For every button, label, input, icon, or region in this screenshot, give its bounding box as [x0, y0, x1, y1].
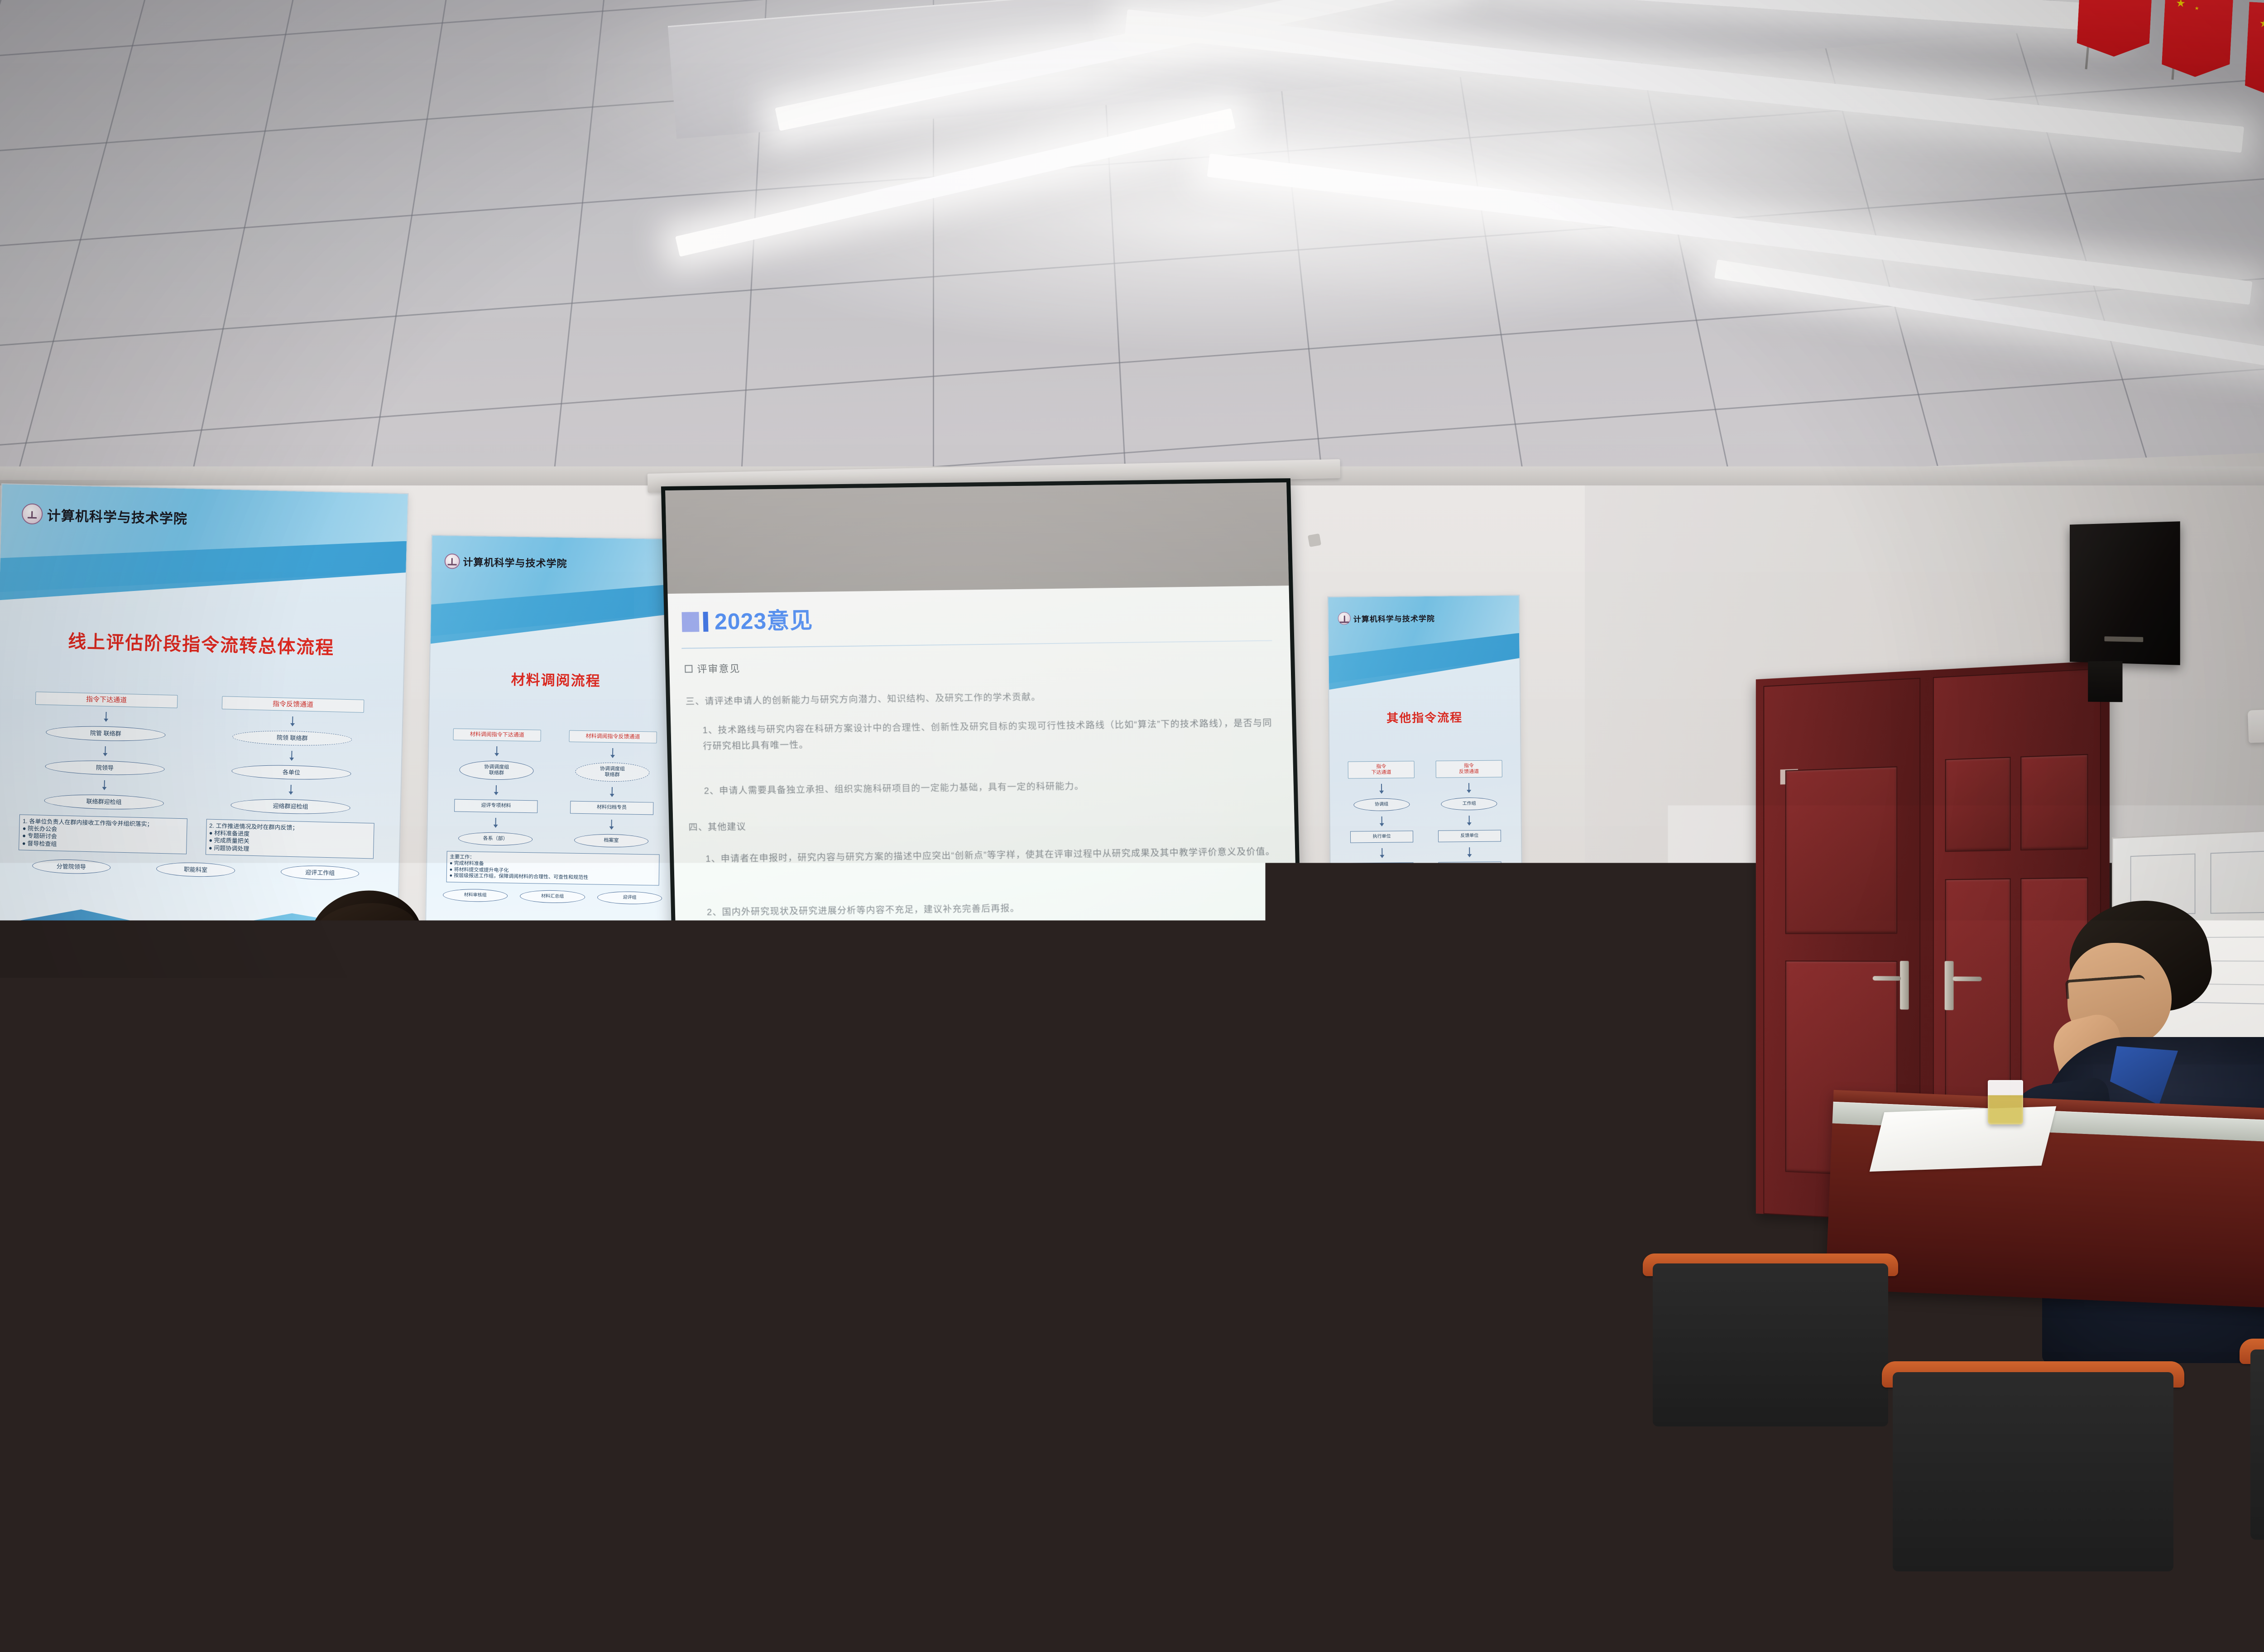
conference-chair[interactable]	[1295, 1286, 1530, 1458]
wall-speaker	[2070, 521, 2180, 665]
slide-paragraph: 四、其他建议	[688, 812, 1275, 836]
flow-arrow	[496, 785, 497, 792]
slide-bullet-heading: 评审意见	[685, 661, 741, 676]
screen-mount-clip	[1308, 533, 1321, 547]
flow-arrow	[106, 712, 106, 719]
poster-header: 计算机科学与技术学院	[1338, 610, 1510, 624]
slide-title-row: 2023意见	[681, 609, 813, 634]
flow-node: 联络群迎检组	[44, 793, 163, 811]
flow-box: 指令反馈通道	[222, 696, 364, 713]
flow-node: 院领导	[45, 759, 164, 776]
wall-poster-other-process: 计算机科学与技术学院 其他指令流程 指令 下达通道 指令 反馈通道 协调组 工作…	[1327, 595, 1523, 972]
flow-arrow	[495, 818, 496, 825]
slide-watermark-logo-icon	[1253, 960, 1283, 989]
poster-title: 其他指令流程	[1337, 708, 1512, 726]
paper-sheet	[1870, 1106, 2056, 1172]
slide-paragraph: 1、申请者在申报时，研究内容与研究方案的描述中应突出“创新点”等字样，使其在评审…	[705, 844, 1276, 867]
flow-note: 主要工作： ● 完成材料准备 ● 将材料提交或提升电子化 ● 按层级报送工作组，…	[446, 851, 660, 885]
slide-title-accent-block	[681, 612, 699, 632]
tea-cup[interactable]	[1988, 1080, 2023, 1124]
flow-node: 协调调度组 联络群	[459, 760, 533, 781]
flow-arrow	[496, 746, 497, 754]
flow-node: 协调组	[1353, 798, 1410, 811]
flow-box: 指令下达通道	[35, 692, 177, 708]
flow-node: 材料归档专员	[570, 801, 654, 815]
door-panel	[1945, 757, 2010, 852]
attendee-front-hair-sheen	[697, 992, 788, 1218]
flow-arrow	[612, 748, 613, 755]
flow-node: 工作组	[1441, 797, 1497, 810]
conference-chair[interactable]	[91, 1485, 367, 1652]
college-logo-icon	[21, 504, 43, 525]
flow-arrow	[291, 751, 292, 758]
slide-title: 2023意见	[714, 609, 813, 633]
door-panel	[1785, 766, 1897, 934]
flow-arrow	[611, 820, 612, 827]
speaker-mount-bracket	[2088, 661, 2122, 702]
conference-chair[interactable]	[2250, 1349, 2264, 1540]
flow-note: 2. 工作推进情况及时在群内反馈； ● 材料准备进度 ● 完成质量把关 ● 问题…	[206, 819, 374, 859]
flow-node: 各单位	[231, 764, 351, 781]
college-logo-icon	[444, 553, 460, 569]
flow-arrow	[1468, 783, 1469, 790]
flow-arrow	[1469, 847, 1470, 855]
flow-node: 材料汇总组	[520, 890, 585, 903]
college-logo-icon	[1338, 612, 1351, 624]
door-handle-right[interactable]	[1944, 961, 1953, 1010]
flow-node: 分管院领导	[32, 859, 110, 875]
door-panel	[2020, 754, 2088, 850]
flow-arrow	[290, 785, 291, 792]
poster-org-name: 计算机科学与技术学院	[47, 504, 187, 528]
wall-ac-unit	[2248, 707, 2264, 743]
flow-arrow	[612, 787, 613, 794]
flow-node: 院管 联络群	[46, 725, 165, 742]
slide-paragraph: 2、国内外研究现状及研究进展分析等内容不充足，建议补充完善后再报。	[707, 898, 1277, 921]
poster-flowchart: 指令 下达通道 指令 反馈通道 协调组 工作组 执行单位 反馈单位	[1337, 760, 1514, 964]
flow-node: 档案室	[574, 834, 648, 848]
conference-chair[interactable]	[1653, 1263, 1888, 1426]
conference-chair[interactable]	[1893, 1372, 2173, 1571]
flow-arrow	[105, 746, 106, 754]
ceiling	[0, 0, 2264, 534]
poster-title: 材料调阅流程	[440, 667, 672, 691]
slide-paragraph: 1、技术路线与研究内容在科研方案设计中的合理性、创新性及研究目标的实现可行性技术…	[702, 716, 1273, 754]
poster-org-name: 计算机科学与技术学院	[463, 554, 567, 570]
flow-node: 落实情况	[1350, 862, 1414, 875]
flow-node: 各系（部）	[458, 832, 532, 846]
flow-node: 职能科室	[156, 862, 235, 878]
flow-arrow	[104, 780, 105, 788]
tea-cup[interactable]	[1175, 1198, 1217, 1250]
flow-node: 执行单位	[1350, 831, 1414, 843]
flow-arrow	[1381, 848, 1382, 855]
slide-divider	[681, 640, 1272, 649]
conference-chair[interactable]	[815, 1368, 1069, 1558]
flow-arrow	[1381, 816, 1382, 824]
flow-box: 指令 下达通道	[1348, 761, 1415, 779]
poster-title: 线上评估阶段指令流转总体流程	[14, 625, 388, 661]
slide-title-accent-bar	[703, 612, 708, 632]
flow-node: 汇总上报	[1438, 862, 1501, 874]
flow-node: 院领 联络群	[232, 730, 352, 747]
flow-node: 迎评专项材料	[454, 799, 538, 813]
door-handle-left[interactable]	[1900, 961, 1909, 1010]
slide-paragraph: 2、申请人需要具备独立承担、组织实施科研项目的一定能力基础，具有一定的科研能力。	[704, 776, 1274, 799]
flow-box: 材料调阅指令反馈通道	[569, 730, 657, 744]
slide-paragraph: 三、请评述申请人的创新能力与研究方向潜力、知识结构、及研究工作的学术贡献。	[686, 687, 1272, 710]
poster-org-name: 计算机科学与技术学院	[1353, 612, 1435, 624]
flow-node: 迎评组	[597, 891, 662, 905]
flow-note: 1. 各单位负责人在群内接收工作指令并组织落实； ● 院长办公会 ● 专题研讨会…	[19, 814, 187, 854]
flow-node: 责任人	[1435, 882, 1505, 895]
flow-arrow	[1381, 784, 1382, 791]
flow-node: 迎络群迎检组	[230, 798, 350, 815]
flow-node: 协调调度组 联络群	[575, 762, 649, 783]
flow-box: 指令 反馈通道	[1435, 760, 1502, 778]
flow-node: 迎评工作组	[281, 864, 360, 881]
speaker-badge	[2104, 636, 2143, 642]
meeting-room-scene: ★ ★ ★ ★ ★ ★ ★ ★ ★ ★ ★ ★ ★ ★	[0, 0, 2264, 1652]
screen-letterbox-top	[665, 482, 1289, 594]
flow-arrow	[292, 716, 293, 724]
flow-node: 归口部门	[1347, 883, 1417, 896]
flow-arrow	[1469, 816, 1470, 823]
presentation-slide: 2023意见 评审意见 三、请评述申请人的创新能力与研究方向潜力、知识结构、及研…	[667, 586, 1298, 1007]
flow-node: 反馈单位	[1438, 830, 1501, 842]
flow-box: 材料调阅指令下达通道	[453, 729, 541, 742]
